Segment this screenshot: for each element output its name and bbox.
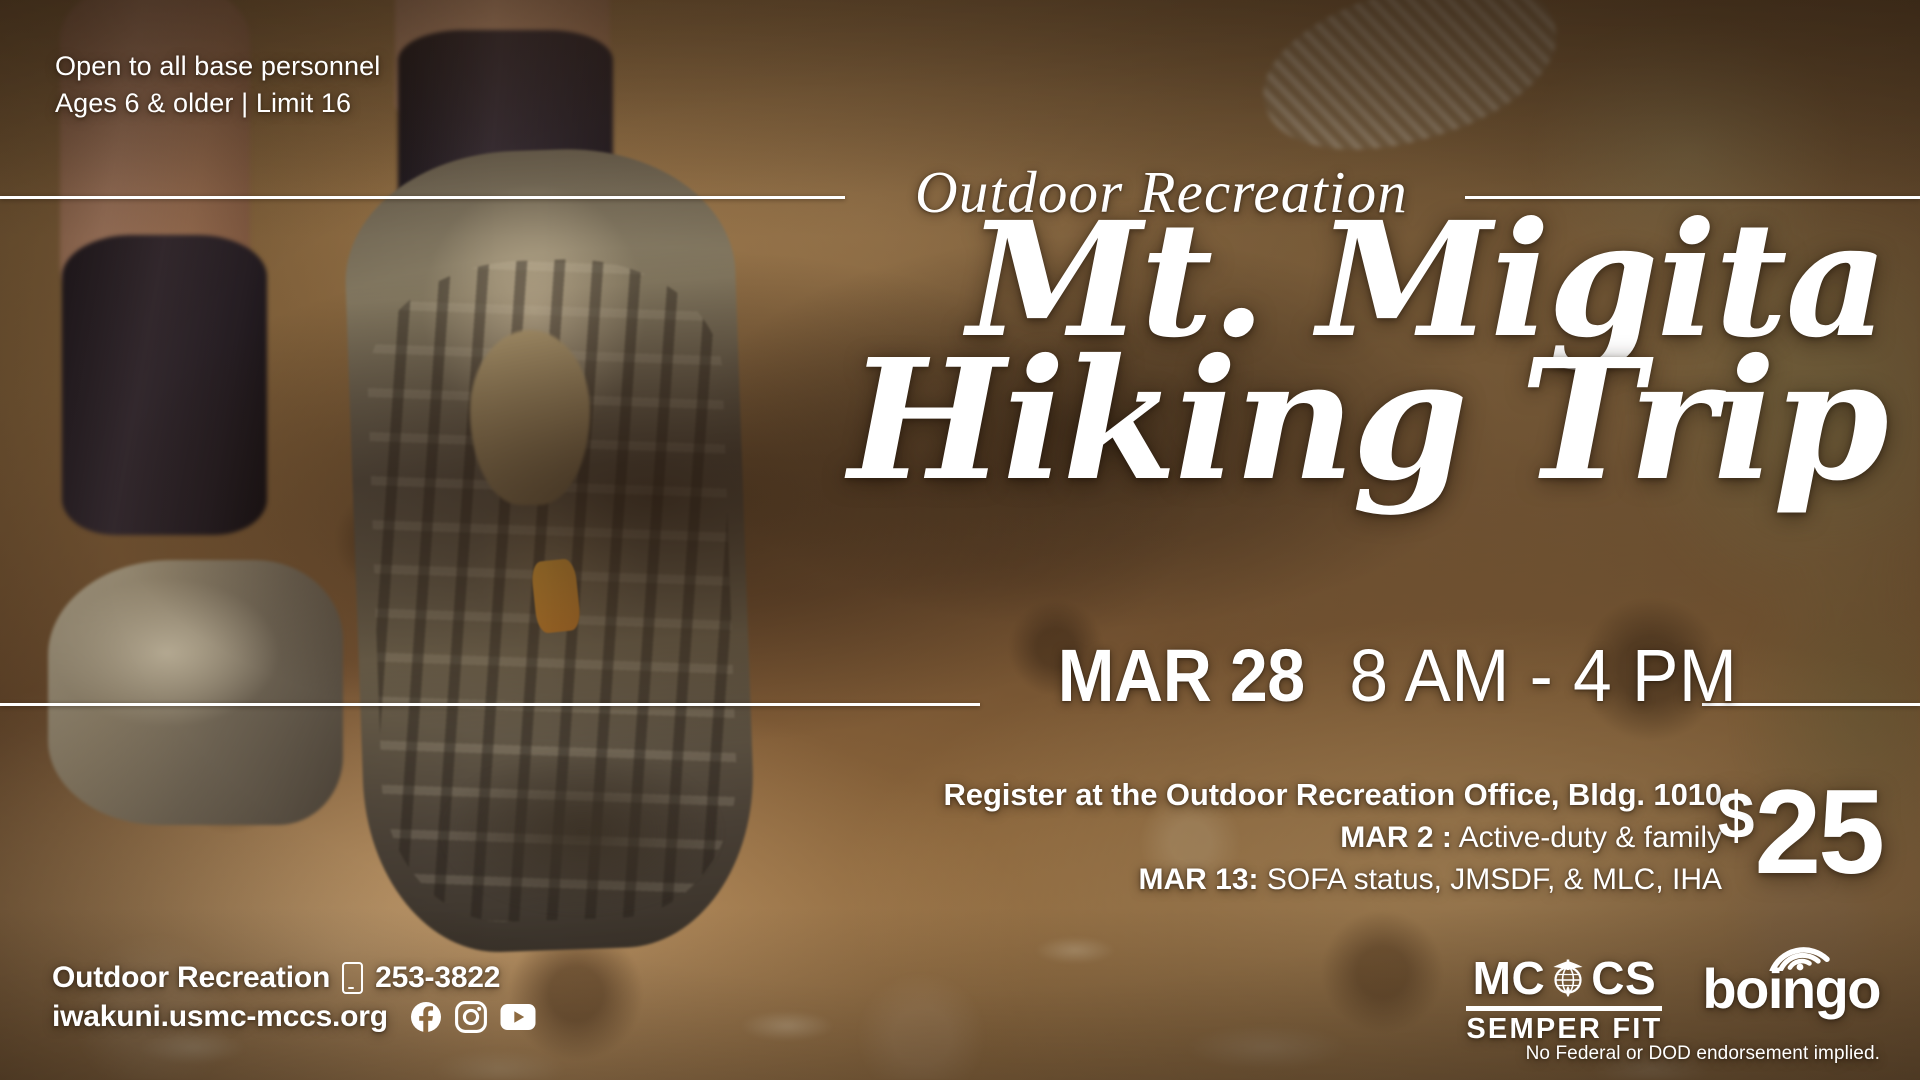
price-badge: $ 25 [1718,772,1882,892]
divider-rule-bottom-left [0,703,980,706]
mccs-wordmark: MC CS [1466,955,1662,1001]
registration-row-1-audience: Active-duty & family [1452,821,1722,854]
wifi-arcs-icon [1764,927,1836,971]
footer-contact-row-phone: Outdoor Recreation 253-3822 [52,958,536,997]
facebook-icon[interactable] [410,1001,442,1033]
mccs-tagline: SEMPER FIT [1466,1015,1662,1044]
footer-website-url[interactable]: iwakuni.usmc-mccs.org [52,997,388,1036]
registration-row-2: MAR 13: SOFA status, JMSDF, & MLC, IHA [944,860,1722,899]
mccs-logo-divider [1466,1006,1662,1011]
youtube-icon[interactable] [500,1003,536,1031]
poster-canvas: Open to all base personnel Ages 6 & olde… [0,0,1920,1080]
mobile-phone-icon [342,962,363,994]
footer-contact-row-web: iwakuni.usmc-mccs.org [52,997,536,1036]
divider-rule-top-left [0,196,845,199]
instagram-icon[interactable] [455,1001,487,1033]
event-date: MAR 28 [1058,633,1305,718]
registration-row-1: MAR 2 : Active-duty & family [944,818,1722,857]
eagle-globe-anchor-icon [1546,956,1590,1000]
registration-row-2-audience: SOFA status, JMSDF, & MLC, IHA [1259,863,1722,896]
event-datetime: MAR 28 8 AM - 4 PM [1047,633,1750,718]
registration-info: Register at the Outdoor Recreation Offic… [944,775,1722,899]
sponsor-logos: MC CS SEMPER FIT [1466,955,1880,1044]
mccs-letters-mc: MC [1473,955,1546,1001]
price-currency-symbol: $ [1718,782,1755,848]
event-title: Mt. Migita Hiking Trip [848,208,1886,498]
footer-organization: Outdoor Recreation [52,958,330,997]
registration-row-2-date: MAR 13: [1139,863,1259,896]
event-title-line-2: Hiking Trip [848,345,1886,498]
footer-contact: Outdoor Recreation 253-3822 iwakuni.usmc… [52,958,536,1036]
social-links [410,1001,536,1033]
mccs-letters-cs: CS [1591,955,1656,1001]
eligibility-line-2: Ages 6 & older | Limit 16 [55,85,380,122]
eligibility-line-1: Open to all base personnel [55,48,380,85]
eligibility-note: Open to all base personnel Ages 6 & olde… [55,48,380,123]
boingo-logo: boingo [1702,955,1880,1017]
endorsement-disclaimer: No Federal or DOD endorsement implied. [1526,1043,1880,1065]
registration-headline: Register at the Outdoor Recreation Offic… [944,775,1722,815]
footer-phone-number[interactable]: 253-3822 [375,958,500,997]
registration-row-1-date: MAR 2 : [1340,821,1452,854]
price-amount: 25 [1755,772,1882,892]
event-time: 8 AM - 4 PM [1350,633,1738,718]
mccs-semper-fit-logo: MC CS SEMPER FIT [1466,955,1662,1044]
